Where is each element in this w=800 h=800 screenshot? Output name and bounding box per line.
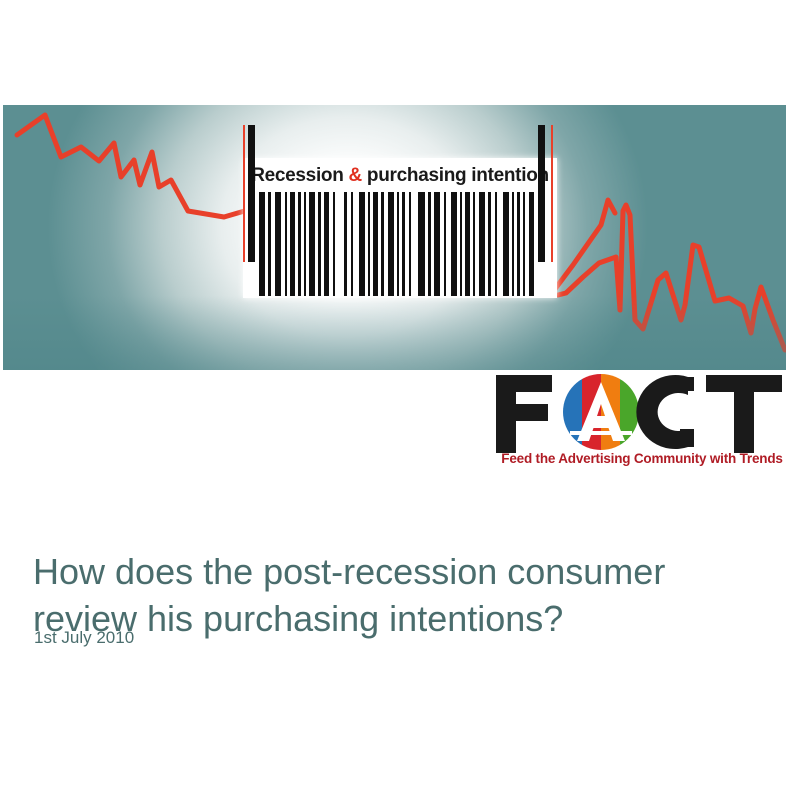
barcode-label: Recession & purchasing intention [243, 161, 557, 191]
slide-date: 1st July 2010 [34, 628, 134, 648]
barcode-graphic: Recession & purchasing intention [243, 158, 557, 298]
page-title: How does the post-recession consumer rev… [33, 548, 753, 642]
trend-line-right [558, 205, 786, 350]
barcode-label-prefix: Recession [251, 165, 348, 186]
barcode-bars [243, 192, 557, 296]
logo-letter-a-disc [563, 374, 640, 450]
logo-letter-f [496, 375, 552, 453]
barcode-label-suffix: purchasing intention [362, 165, 549, 186]
logo-letter-a-gap [570, 431, 632, 435]
fact-logo-tagline: Feed the Advertising Community with Tren… [492, 451, 792, 466]
logo-letter-t [706, 375, 782, 453]
logo-letter-c [636, 375, 694, 449]
fact-logo: Feed the Advertising Community with Tren… [492, 371, 792, 476]
barcode-label-ampersand: & [349, 165, 362, 186]
fact-logo-mark [492, 371, 792, 453]
